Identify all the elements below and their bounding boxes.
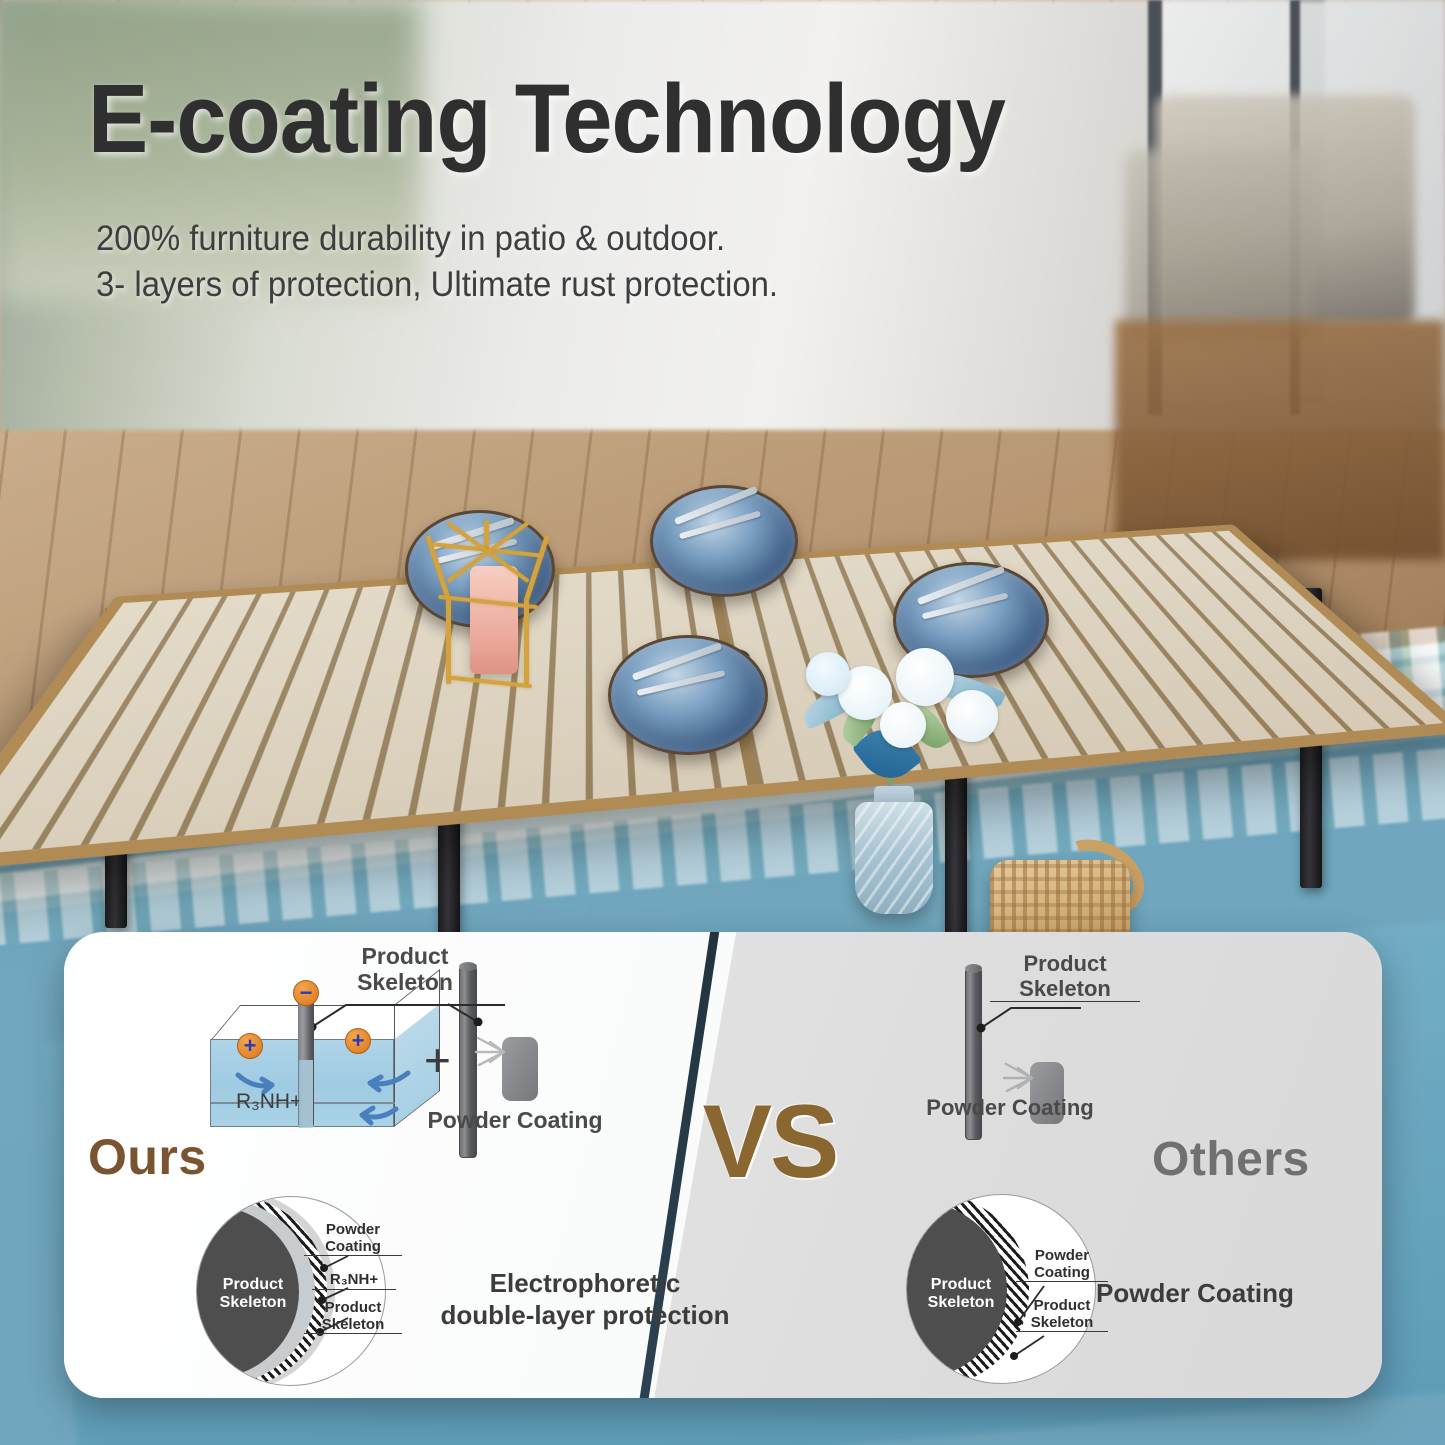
page-title: E-coating Technology <box>88 70 1005 167</box>
others-skeleton-rod-cap <box>965 964 982 973</box>
others-xsec-layer-2-label: Product Skeleton <box>1016 1298 1108 1332</box>
solution-formula-label: R₃NH+ <box>236 1090 302 1114</box>
white-flower <box>946 690 998 742</box>
vase-texture <box>855 802 933 914</box>
ours-spray-lines-icon <box>470 1032 516 1072</box>
pale-blue-flower <box>806 652 850 696</box>
others-caption: Powder Coating <box>1096 1278 1376 1310</box>
positive-ion-marker-right: + <box>345 1028 371 1054</box>
page-subtitle: 200% furniture durability in patio & out… <box>96 216 778 308</box>
cage-strut <box>524 600 529 684</box>
vs-label: VS <box>660 1090 880 1194</box>
others-product-skeleton-label: Product Skeleton <box>990 952 1140 1002</box>
ours-xsec-core-label: Product Skeleton <box>198 1276 308 1311</box>
others-xsec-core-label: Product Skeleton <box>906 1276 1016 1311</box>
geometric-candle-holder <box>428 520 548 670</box>
subtitle-line-1: 200% furniture durability in patio & out… <box>96 216 778 262</box>
ours-skeleton-rod-cap <box>459 962 477 971</box>
ours-rod-leader-line <box>440 996 560 1026</box>
white-flower <box>880 702 926 748</box>
ours-xsec-layer-3-label: Product Skeleton <box>304 1300 402 1334</box>
ours-xsec-layer-2-label: R₃NH+ <box>312 1272 396 1290</box>
others-xsec-layer-1-label: Powder Coating <box>1016 1248 1108 1282</box>
white-flower <box>896 648 954 706</box>
patio-dining-table <box>0 390 1445 1010</box>
subtitle-line-2: 3- layers of protection, Ultimate rust p… <box>96 262 778 308</box>
others-spray-lines-icon <box>998 1058 1044 1098</box>
cage-strut <box>523 535 549 603</box>
ours-title: Ours <box>88 1128 207 1186</box>
cage-strut <box>438 595 538 609</box>
ours-xsec-layer-1-label: Powder Coating <box>304 1222 402 1256</box>
others-powder-coating-label: Powder Coating <box>900 1096 1120 1121</box>
ours-product-skeleton-label: Product Skeleton <box>330 944 480 996</box>
negative-ion-marker: − <box>293 980 319 1006</box>
others-skeleton-leader-line <box>955 1000 1085 1038</box>
cage-strut <box>446 600 451 684</box>
ours-caption: Electrophoretic double-layer protection <box>440 1268 730 1331</box>
others-title: Others <box>1152 1132 1310 1187</box>
flower-vase <box>855 802 933 914</box>
indoor-sofa-secondary <box>1125 150 1315 340</box>
electrode-submerged-portion <box>299 1060 313 1128</box>
